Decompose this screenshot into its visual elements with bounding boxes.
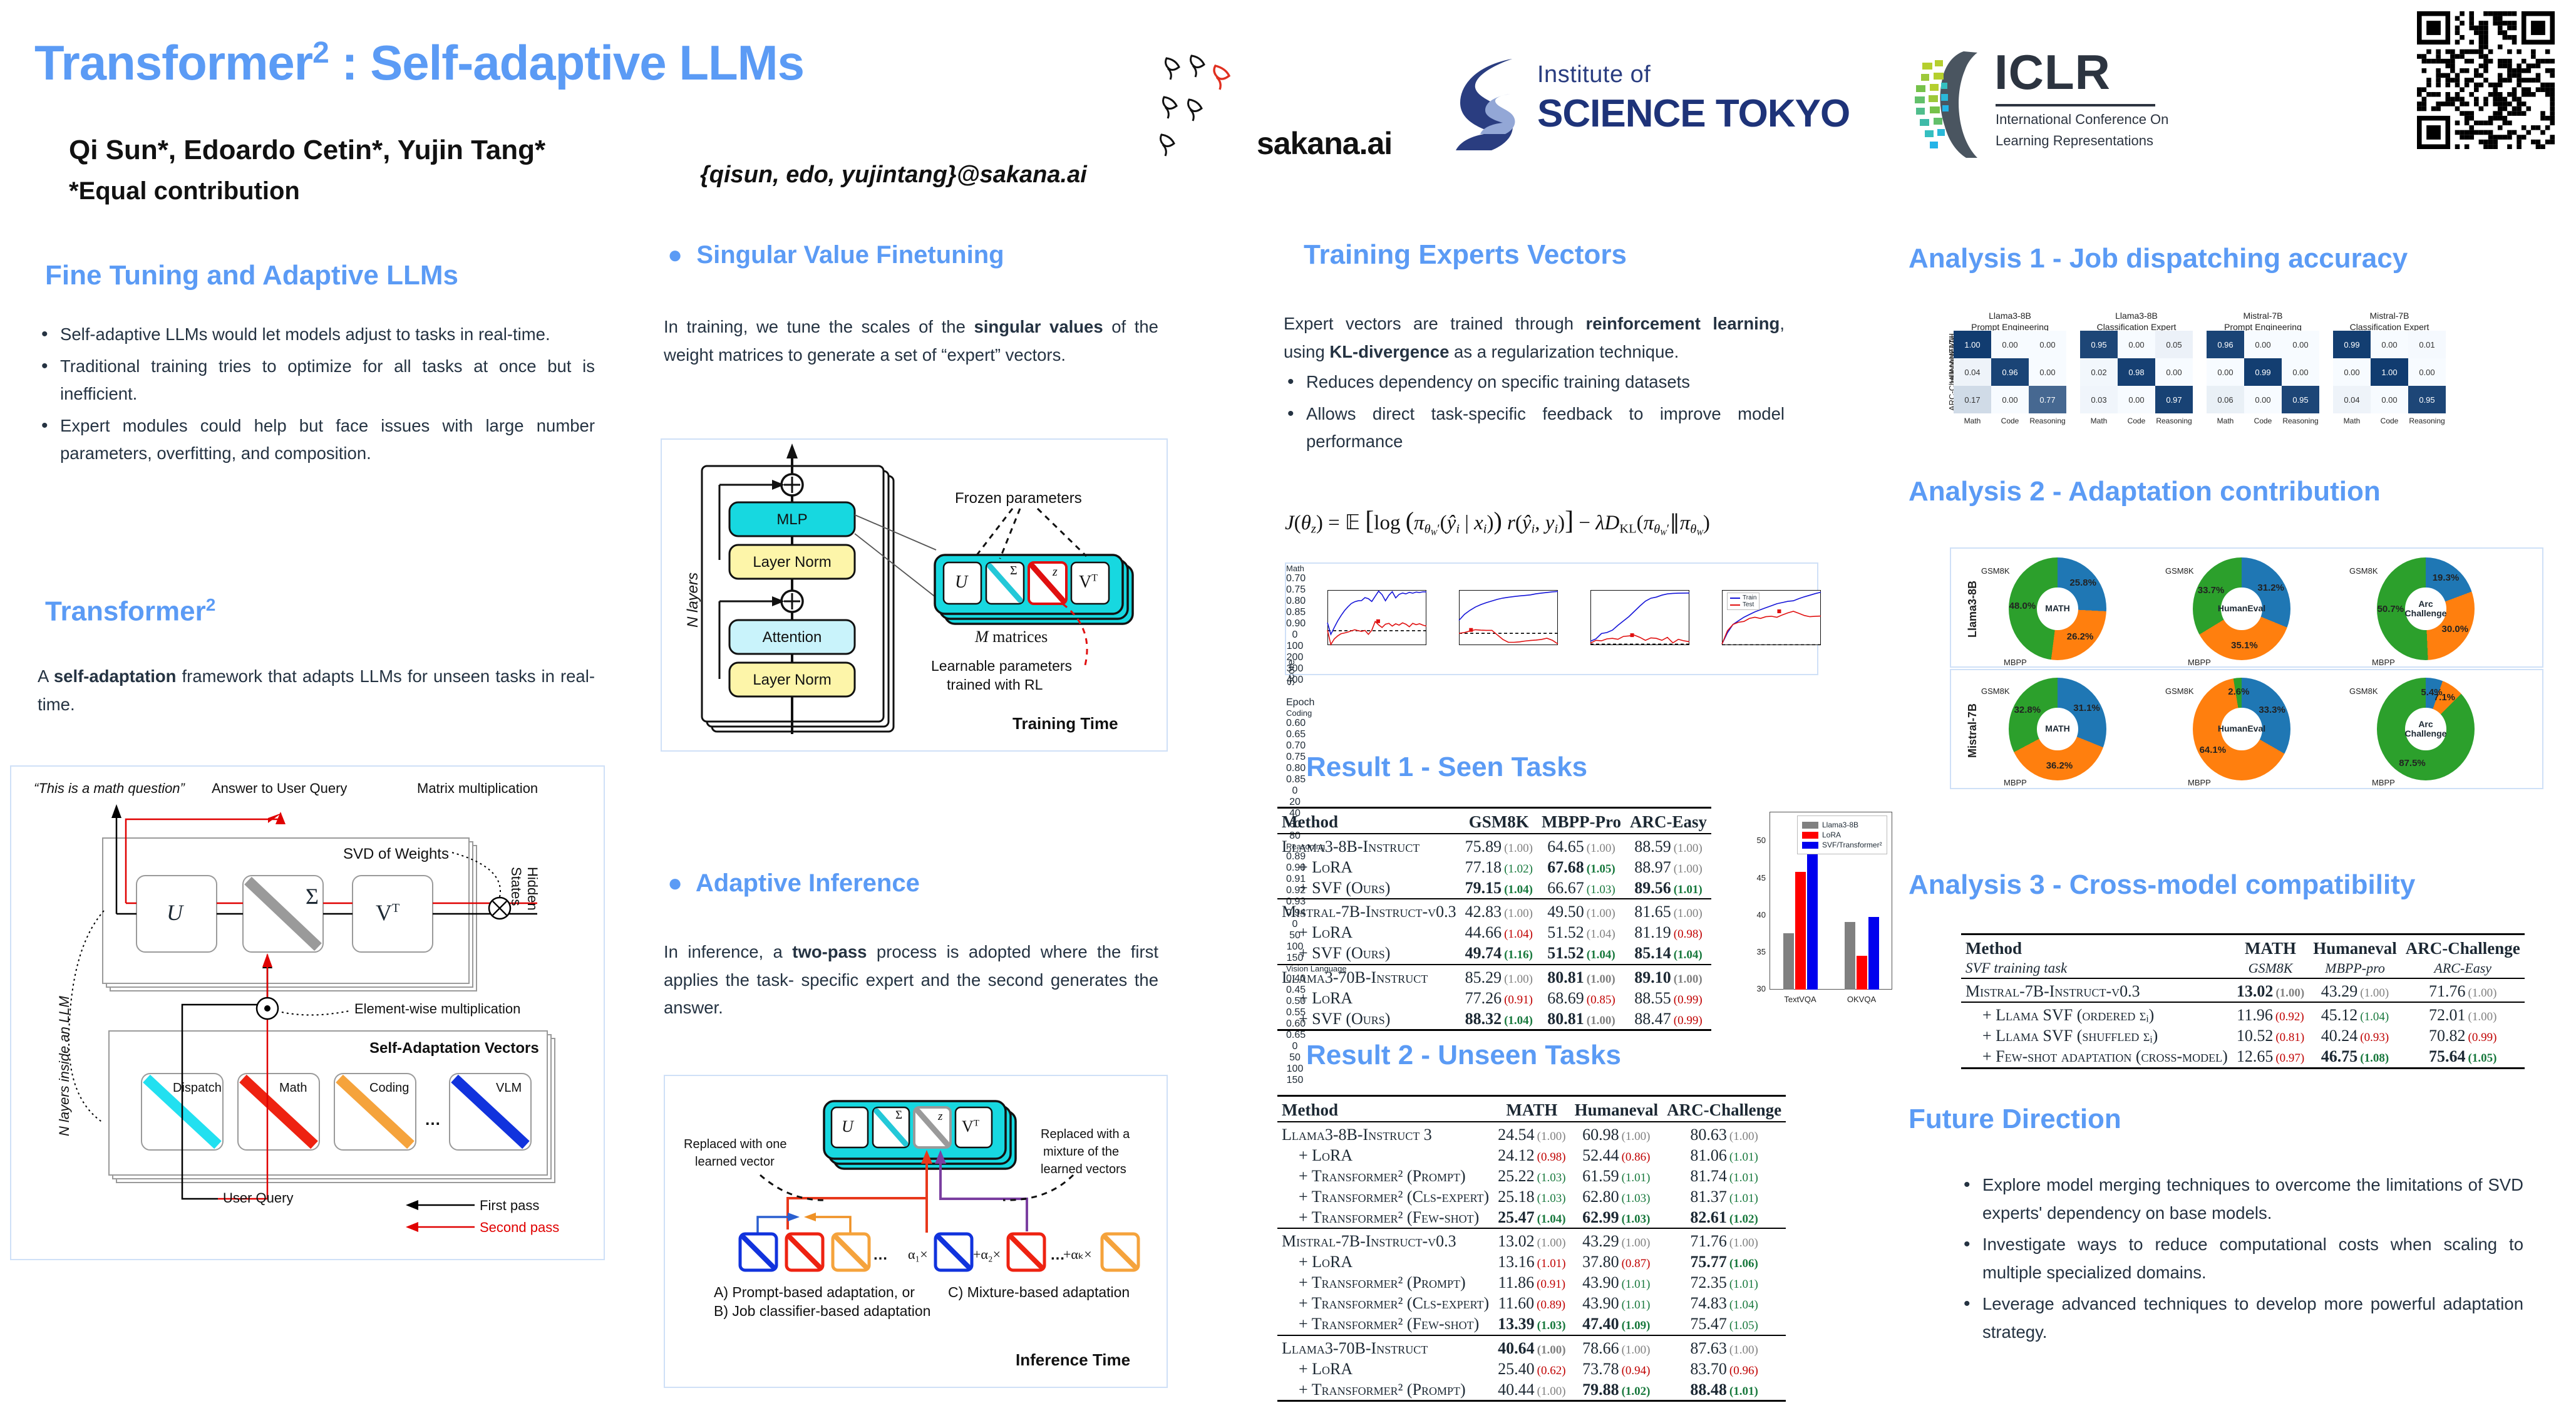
- tt-matrix-z: z: [1053, 565, 1058, 579]
- heading-analysis1: Analysis 1 - Job dispatching accuracy: [1909, 243, 2408, 274]
- heatmap-cell: 0.00: [2282, 358, 2319, 386]
- heading-fine-tuning: Fine Tuning and Adaptive LLMs: [45, 260, 458, 291]
- contact-email: {qisun, edo, yujintang}@sakana.ai: [700, 162, 1087, 189]
- table-row: + Few-shot adaptation (cross-model)12.65…: [1961, 1047, 2525, 1069]
- heatmap-cell: 0.00: [2244, 386, 2282, 413]
- iclr-logo: ICLR International Conference On Learnin…: [1885, 44, 2185, 163]
- adaptive-inference-description: In inference, a two-pass process is adop…: [664, 938, 1158, 1022]
- label-m-matrices: M matrices: [975, 628, 1048, 646]
- inf-matrix-vt: VT: [962, 1117, 979, 1136]
- label-elementwise-multiplication: Element-wise multiplication: [354, 1001, 520, 1017]
- label-hidden-states: Hidden States: [508, 867, 540, 930]
- block-layer-norm-1: Layer Norm: [729, 554, 855, 571]
- heatmap-cell: 0.99: [2244, 358, 2282, 386]
- tt-matrix-sigma: Σ: [1010, 564, 1018, 578]
- future-direction-bullets: Explore model merging techniques to over…: [1960, 1171, 2523, 1350]
- label-n-layers-inside-llm: N layers inside an LLM: [56, 996, 73, 1136]
- bar: [1783, 933, 1794, 990]
- label-learnable-params-line1: Learnable parameters: [931, 658, 1072, 675]
- table-row: + Transformer² (Cls-expert)11.60 (0.89)4…: [1277, 1293, 1786, 1314]
- label-learnable-params-line2: trained with RL: [947, 676, 1043, 693]
- donut-slice-label: 64.1%: [2199, 745, 2227, 755]
- caption-training-time: Training Time: [1012, 714, 1118, 733]
- heatmap-cell: 0.98: [2118, 358, 2155, 386]
- self-adaptation-diagram: “This is a math question” Answer to User…: [10, 765, 605, 1260]
- inf-matrix-z: z: [938, 1110, 942, 1124]
- inf-matrix-u: U: [842, 1117, 853, 1136]
- donut-slice-label: 36.2%: [2046, 760, 2073, 771]
- table-row: + SVF (Ours)49.74 (1.16)51.52 (1.04)85.1…: [1277, 943, 1711, 965]
- list-item: Investigate ways to reduce computational…: [1960, 1231, 2523, 1287]
- list-item: Allows direct task-specific feedback to …: [1284, 400, 1785, 456]
- label-user-query: User Query: [223, 1190, 293, 1206]
- adaptation-donuts: Llama3-8BMistral-7BMATH25.8%26.2%48.0%GS…: [1950, 547, 2543, 789]
- heading-analysis2: Analysis 2 - Adaptation contribution: [1909, 476, 2381, 507]
- label-self-adaptation-vectors: Self-Adaptation Vectors: [369, 1040, 539, 1057]
- table-row: + LoRA77.18 (1.02)67.68 (1.05)88.97 (1.0…: [1277, 857, 1711, 878]
- caption-inference-time: Inference Time: [1016, 1350, 1130, 1370]
- table-row: + LoRA13.16 (1.01)37.80 (0.87)75.77 (1.0…: [1277, 1252, 1786, 1273]
- result2-table: MethodMATHHumanevalARC-ChallengeLlama3-8…: [1277, 1095, 1786, 1402]
- donut-slice-label: 50.7%: [2377, 604, 2404, 614]
- heatmap-cell: 0.96: [2207, 331, 2244, 358]
- table-row: Mistral-7B-Instruct-v0.313.02 (1.00)43.2…: [1277, 1228, 1786, 1252]
- label-svd-of-weights: SVD of Weights: [343, 846, 449, 863]
- poster-root: Transformer2 : Self-adaptive LLMs Qi Sun…: [0, 0, 2576, 1403]
- table-row: + Transformer² (Prompt)25.22 (1.03)61.59…: [1277, 1166, 1786, 1186]
- sakana-red-fish-icon: [1214, 66, 1229, 90]
- block-mlp: MLP: [729, 511, 855, 529]
- heatmap-cell: 0.00: [2282, 331, 2319, 358]
- heatmap-cell: 0.00: [2029, 358, 2066, 386]
- heatmap-cell: 0.00: [2207, 358, 2244, 386]
- heatmap-cell: 0.96: [1991, 358, 2029, 386]
- left-group-ellipsis: …: [873, 1246, 888, 1264]
- coef-alpha2: +α₂×: [973, 1246, 1001, 1263]
- iclr-subtitle-line1: International Conference On: [1996, 111, 2168, 128]
- table-row: + Transformer² (Prompt)40.44 (1.00)79.88…: [1277, 1379, 1786, 1401]
- heatmap-cell: 0.00: [2118, 331, 2155, 358]
- table-row: + Llama SVF (shuffled σᵢ)10.52 (0.81)40.…: [1961, 1026, 2525, 1047]
- heatmap-cell: 0.06: [2207, 386, 2244, 413]
- donut-slice-label: 30.0%: [2441, 624, 2469, 634]
- list-item: Explore model merging techniques to over…: [1960, 1171, 2523, 1227]
- option-c-label: C) Mixture-based adaptation: [948, 1284, 1130, 1301]
- donut-slice-label: 48.0%: [2009, 601, 2036, 611]
- note-replaced-one-vector-l1: Replaced with one: [684, 1137, 787, 1152]
- science-tokyo-logo: Institute of SCIENCE TOKYO: [1453, 50, 1853, 163]
- heatmap-cell: 0.01: [2408, 331, 2446, 358]
- heatmap-cell: 0.03: [2080, 386, 2118, 413]
- heatmap-cell: 0.00: [2408, 358, 2446, 386]
- table-row: + LoRA24.12 (0.98)52.44 (0.86)81.06 (1.0…: [1277, 1145, 1786, 1166]
- dispatch-heatmaps: MATHHUMANEVALARC-ChallengeLlama3-8BPromp…: [1916, 299, 2561, 437]
- heatmap-cell: 0.00: [2371, 386, 2408, 413]
- donut-slice-label: 87.5%: [2399, 758, 2426, 769]
- heatmap-cell: 0.95: [2080, 331, 2118, 358]
- objective-equation: J(θz) = 𝔼 [log (πθW′(ŷi | xi)) r(ŷi, yi)…: [1285, 506, 1710, 537]
- list-item: Reduces dependency on specific training …: [1284, 368, 1785, 396]
- table-row: + SVF (Ours)88.32 (1.04)80.81 (1.00)88.4…: [1277, 1008, 1711, 1030]
- heatmap-cell: 0.00: [2244, 331, 2282, 358]
- list-item: Self-adaptive LLMs would let models adju…: [38, 321, 595, 349]
- analysis3-table-wrap: MethodMATHHumanevalARC-ChallengeSVF trai…: [1961, 933, 2525, 1069]
- sakana-wordmark: sakana.ai: [1257, 125, 1392, 162]
- science-tokyo-mark-icon: [1453, 58, 1522, 152]
- heatmap-cell: 0.77: [2029, 386, 2066, 413]
- label-matrix-multiplication: Matrix multiplication: [417, 780, 538, 797]
- label-n-layers: N layers: [684, 572, 702, 628]
- heatmap-cell: 0.05: [2155, 331, 2193, 358]
- heatmap-cell: 0.02: [2080, 358, 2118, 386]
- equal-contribution-note: *Equal contribution: [69, 177, 300, 205]
- bar: [1868, 917, 1879, 990]
- label-math-question: “This is a math question”: [34, 780, 185, 797]
- donut-slice-label: 31.2%: [2257, 582, 2285, 593]
- label-answer-to-query: Answer to User Query: [212, 780, 347, 797]
- heading-adaptive-inference: ● Adaptive Inference: [667, 869, 920, 898]
- heatmap-cell: 0.99: [2333, 331, 2371, 358]
- heading-result1: Result 1 - Seen Tasks: [1306, 752, 1587, 783]
- note-replaced-one-vector-l2: learned vector: [695, 1155, 775, 1169]
- tt-matrix-u: U: [955, 572, 967, 593]
- heatmap-cell: 0.04: [2333, 386, 2371, 413]
- science-tokyo-line1: Institute of: [1537, 61, 1651, 88]
- table-row: + Llama SVF (ordered σᵢ)11.96 (0.92)45.1…: [1961, 1002, 2525, 1026]
- heatmap-cell: 0.04: [1954, 358, 1991, 386]
- heatmap-cell: 1.00: [2371, 358, 2408, 386]
- legend-first-pass: First pass: [480, 1198, 539, 1214]
- transformer2-description: A self-adaptation framework that adapts …: [38, 663, 595, 718]
- option-a-label: A) Prompt-based adaptation, or: [714, 1284, 915, 1301]
- donut-slice-label: 32.8%: [2014, 705, 2041, 715]
- result1-table: MethodGSM8KMBPP-ProARC-EasyLlama3-8B-Ins…: [1277, 807, 1711, 1032]
- analysis3-table: MethodMATHHumanevalARC-ChallengeSVF trai…: [1961, 933, 2525, 1069]
- training-experts-description: Expert vectors are trained through reinf…: [1284, 310, 1785, 366]
- training-curves-figure: Math0.700.750.800.850.900100200300400Sco…: [1285, 562, 1818, 675]
- note-mixture-l2: mixture of the: [1043, 1145, 1119, 1159]
- coef-alphak: +αₖ×: [1063, 1246, 1092, 1263]
- note-mixture-l1: Replaced with a: [1041, 1127, 1130, 1142]
- heatmap-cell: 0.00: [2118, 386, 2155, 413]
- note-mixture-l3: learned vectors: [1041, 1162, 1126, 1177]
- heatmap-cell: 0.17: [1954, 386, 1991, 413]
- result1-table-wrap: MethodGSM8KMBPP-ProARC-EasyLlama3-8B-Ins…: [1277, 807, 1711, 1032]
- heading-future-direction: Future Direction: [1909, 1104, 2121, 1135]
- table-row: Llama3-8B-Instruct75.89 (1.00)64.65 (1.0…: [1277, 834, 1711, 857]
- heading-singular-value-finetuning: ● Singular Value Finetuning: [667, 241, 1004, 269]
- donut-slice-label: 19.3%: [2432, 572, 2460, 583]
- table-row: Llama3-70B-Instruct85.29 (1.00)80.81 (1.…: [1277, 965, 1711, 988]
- heatmap-cell: 0.00: [2155, 358, 2193, 386]
- table-row: Llama3-70B-Instruct40.64 (1.00)78.66 (1.…: [1277, 1335, 1786, 1359]
- page-title: Transformer2 : Self-adaptive LLMs: [34, 34, 804, 91]
- table-row: Llama3-8B-Instruct 324.54 (1.00)60.98 (1…: [1277, 1122, 1786, 1146]
- donut-slice-label: 26.2%: [2066, 631, 2094, 642]
- matrix-vt-label: VT: [376, 899, 399, 926]
- block-layer-norm-2: Layer Norm: [729, 671, 855, 689]
- table-row: + SVF (Ours)79.15 (1.04)66.67 (1.03)89.5…: [1277, 878, 1711, 899]
- vector-coding-label: Coding: [369, 1081, 409, 1095]
- donut-slice-label: 7.1%: [2431, 692, 2458, 703]
- iclr-brain-icon: [1904, 49, 1991, 158]
- iclr-subtitle-line2: Learning Representations: [1996, 133, 2153, 149]
- iclr-divider: [1996, 104, 2155, 106]
- donut-slice-label: 2.6%: [2225, 686, 2252, 697]
- table-row: + Transformer² (Few-shot)13.39 (1.03)47.…: [1277, 1314, 1786, 1335]
- matrix-u-label: U: [167, 899, 183, 926]
- heading-training-experts-vectors: Training Experts Vectors: [1304, 239, 1627, 271]
- training-time-figure: N layers MLP Layer Norm Attention Layer …: [661, 438, 1168, 752]
- heatmap-cell: 0.00: [2333, 358, 2371, 386]
- list-item: Traditional training tries to optimize f…: [38, 353, 595, 408]
- table-row: + Transformer² (Prompt)11.86 (0.91)43.90…: [1277, 1273, 1786, 1293]
- vector-math-label: Math: [279, 1081, 307, 1095]
- heatmap-cell: 0.00: [1991, 331, 2029, 358]
- heading-transformer2: Transformer2: [45, 595, 215, 628]
- heatmap-cell: 0.97: [2155, 386, 2193, 413]
- table-row: + LoRA77.26 (0.91)68.69 (0.85)88.55 (0.9…: [1277, 988, 1711, 1008]
- science-tokyo-line2: SCIENCE TOKYO: [1537, 91, 1850, 136]
- vqa-bar-chart: 3035404550TextVQAOKVQALlama3-8BLoRASVF/T…: [1741, 802, 1897, 1015]
- list-item: Leverage advanced techniques to develop …: [1960, 1290, 2523, 1346]
- svf-description: In training, we tune the scales of the s…: [664, 313, 1158, 369]
- table-row: Mistral-7B-Instruct-v0.342.83 (1.00)49.5…: [1277, 899, 1711, 923]
- block-attention: Attention: [729, 629, 855, 646]
- matrix-sigma-label: Σ: [306, 883, 319, 909]
- table-row: + Transformer² (Few-shot)25.47 (1.04)62.…: [1277, 1207, 1786, 1228]
- label-frozen-parameters: Frozen parameters: [955, 490, 1082, 507]
- vector-dispatch-label: Dispatch: [173, 1081, 222, 1095]
- bar: [1795, 872, 1806, 990]
- vector-vlm-label: VLM: [496, 1081, 522, 1095]
- bar-chart-legend: Llama3-8BLoRASVF/Transformer²: [1797, 815, 1887, 854]
- fine-tuning-bullets: Self-adaptive LLMs would let models adju…: [38, 321, 595, 472]
- inference-time-figure: Replaced with one learned vector Replace…: [664, 1075, 1168, 1388]
- heatmap-cell: 0.00: [2371, 331, 2408, 358]
- legend-second-pass: Second pass: [480, 1219, 559, 1236]
- heatmap-cell: 0.95: [2408, 386, 2446, 413]
- donut-slice-label: 35.1%: [2230, 640, 2258, 651]
- vectors-ellipsis: …: [425, 1110, 441, 1129]
- donut-slice-label: 25.8%: [2069, 577, 2097, 588]
- table-row: + LoRA25.40 (0.62)73.78 (0.94)83.70 (0.9…: [1277, 1359, 1786, 1379]
- heatmap-cell: 1.00: [1954, 331, 1991, 358]
- bar: [1857, 956, 1867, 990]
- qr-code[interactable]: [2417, 11, 2555, 149]
- tt-matrix-vt: VT: [1079, 572, 1098, 593]
- result2-table-wrap: MethodMATHHumanevalARC-ChallengeLlama3-8…: [1277, 1095, 1786, 1402]
- bar: [1845, 922, 1855, 990]
- table-row: Mistral-7B-Instruct-v0.313.02 (1.00)43.2…: [1961, 978, 2525, 1003]
- heatmap-cell: 0.00: [2029, 331, 2066, 358]
- donut-slice-label: 33.3%: [2259, 705, 2286, 715]
- training-experts-bullets: Reduces dependency on specific training …: [1284, 368, 1785, 460]
- coef-alpha1: α₁×: [908, 1246, 928, 1263]
- donut-slice-label: 31.1%: [2073, 703, 2101, 713]
- list-item: Expert modules could help but face issue…: [38, 412, 595, 468]
- donut-slice-label: 33.7%: [2197, 585, 2225, 596]
- table-row: + LoRA44.66 (1.04)51.52 (1.04)81.19 (0.9…: [1277, 923, 1711, 943]
- iclr-wordmark: ICLR: [1994, 44, 2111, 101]
- table-row: + Transformer² (Cls-expert)25.18 (1.03)6…: [1277, 1186, 1786, 1207]
- heatmap-cell: 0.00: [1991, 386, 2029, 413]
- option-b-label: B) Job classifier-based adaptation: [714, 1303, 930, 1320]
- heading-analysis3: Analysis 3 - Cross-model compatibility: [1909, 869, 2415, 901]
- authors-line: Qi Sun*, Edoardo Cetin*, Yujin Tang*: [69, 135, 545, 166]
- heatmap-cell: 0.95: [2282, 386, 2319, 413]
- inf-matrix-sigma: Σ: [895, 1109, 902, 1122]
- heading-result2: Result 2 - Unseen Tasks: [1306, 1040, 1621, 1071]
- sakana-fish-icon: [1155, 47, 1268, 166]
